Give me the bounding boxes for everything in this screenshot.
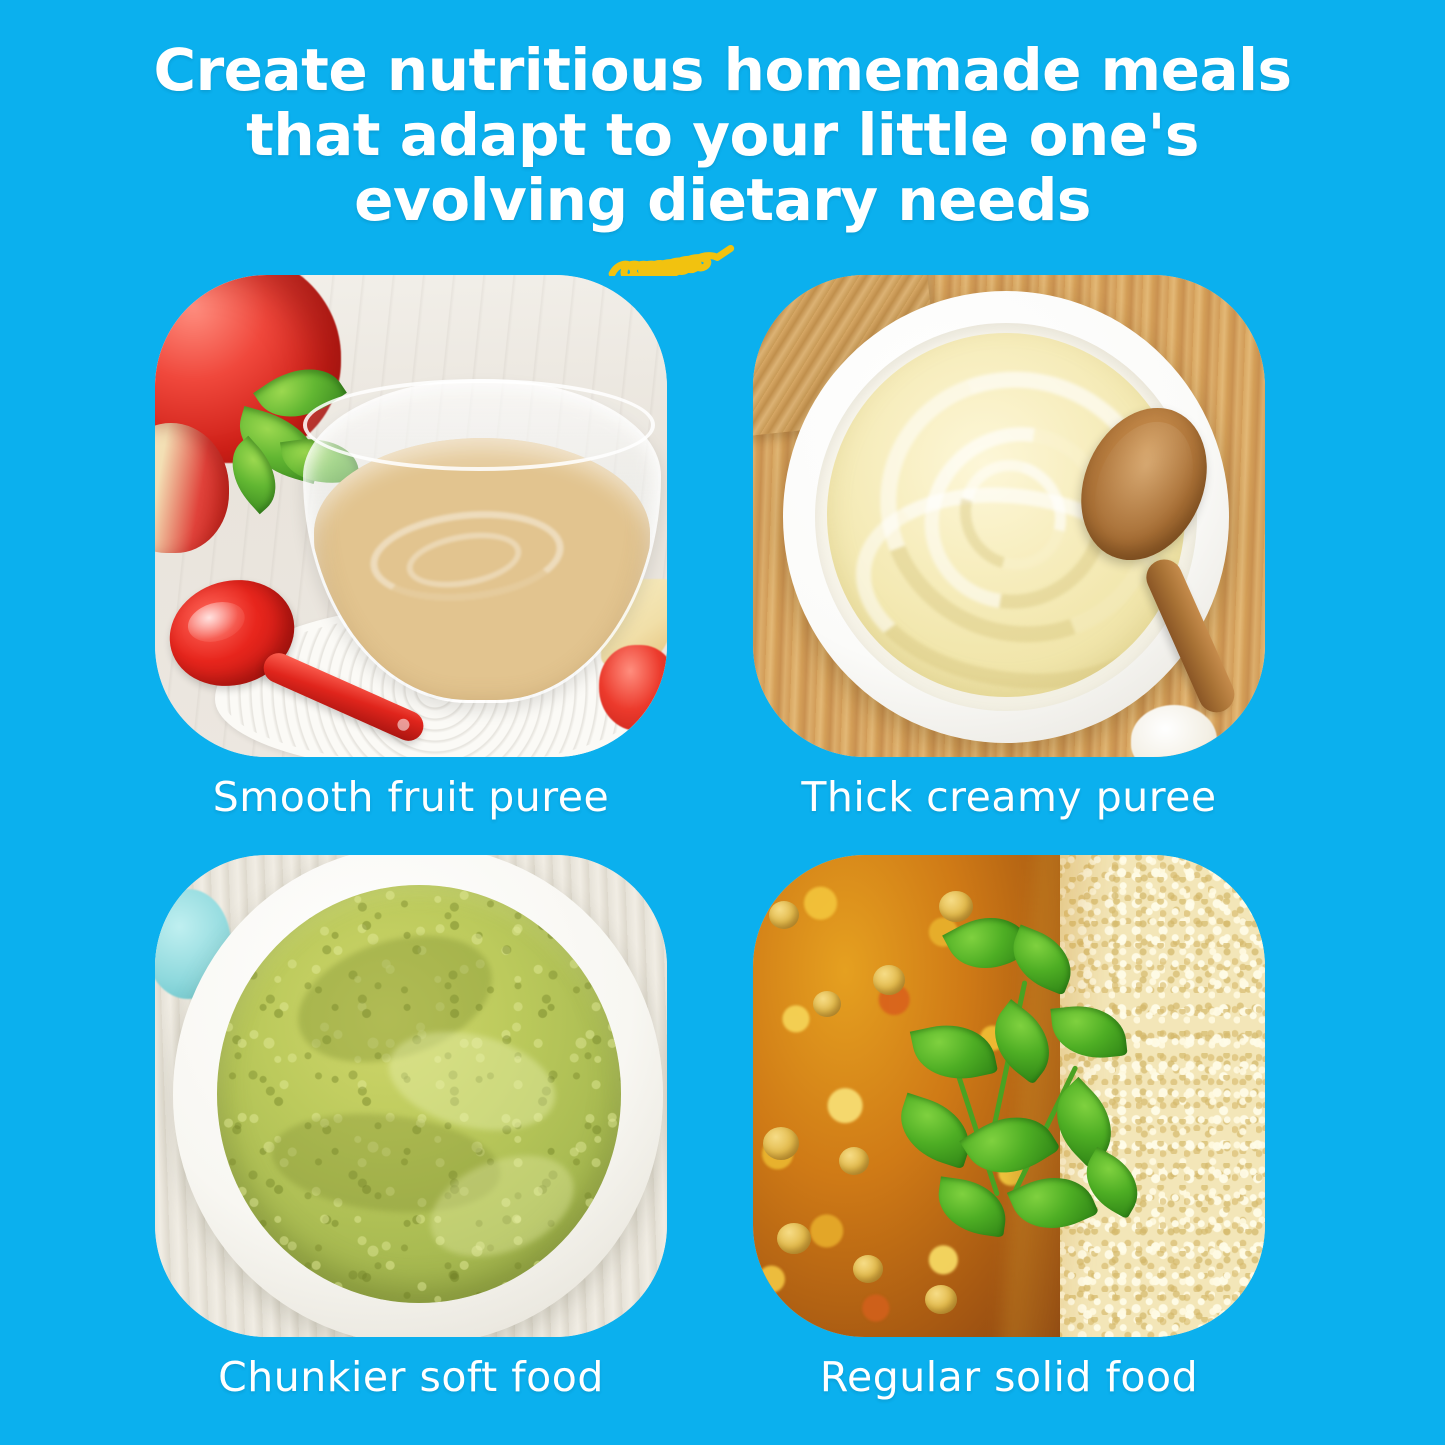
stage-image-chunkier-soft-food (155, 855, 667, 1337)
stage-tile-thick-creamy-puree[interactable]: Thick creamy puree (753, 275, 1265, 821)
chickpea (853, 1255, 883, 1283)
glass-bowl-rim (303, 379, 655, 471)
green-mash-scene (155, 855, 667, 1337)
stage-caption: Regular solid food (753, 1353, 1265, 1401)
red-spoon-icon (169, 575, 439, 755)
squiggle-underline-icon (605, 232, 841, 276)
stage-image-smooth-fruit-puree (155, 275, 667, 757)
apple-puree-scene (155, 275, 667, 757)
chickpea (873, 965, 905, 995)
cilantro-leaf (934, 1176, 1011, 1237)
creamy-puree-scene (753, 275, 1265, 757)
page-title: Create nutritious homemade meals that ad… (120, 38, 1325, 233)
stage-tile-smooth-fruit-puree[interactable]: Smooth fruit puree (155, 275, 667, 821)
stage-caption: Smooth fruit puree (155, 773, 667, 821)
stage-image-thick-creamy-puree (753, 275, 1265, 757)
spoon-handle (259, 648, 428, 745)
infographic-root: Create nutritious homemade meals that ad… (0, 0, 1445, 1445)
chickpea (763, 1127, 799, 1160)
stage-caption: Thick creamy puree (753, 773, 1265, 821)
squiggle-underline-container (0, 232, 1445, 281)
chickpea (769, 901, 799, 929)
stage-caption: Chunkier soft food (155, 1353, 667, 1401)
cilantro-leaf (1038, 1077, 1130, 1169)
cilantro-leaf (910, 1016, 998, 1089)
curry-couscous-scene (753, 855, 1265, 1337)
stage-grid: Smooth fruit puree (155, 275, 1265, 1335)
stage-tile-chunkier-soft-food[interactable]: Chunkier soft food (155, 855, 667, 1401)
chickpea (925, 1285, 957, 1314)
green-mash-fill (217, 885, 621, 1303)
stage-tile-regular-solid-food[interactable]: Regular solid food (753, 855, 1265, 1401)
cilantro-leaf (1050, 1001, 1127, 1062)
cilantro-garnish-icon (903, 919, 1153, 1249)
chickpea (813, 991, 841, 1017)
chickpea (939, 891, 973, 922)
stage-image-regular-solid-food (753, 855, 1265, 1337)
chickpea (839, 1147, 869, 1175)
chickpea (777, 1223, 811, 1254)
